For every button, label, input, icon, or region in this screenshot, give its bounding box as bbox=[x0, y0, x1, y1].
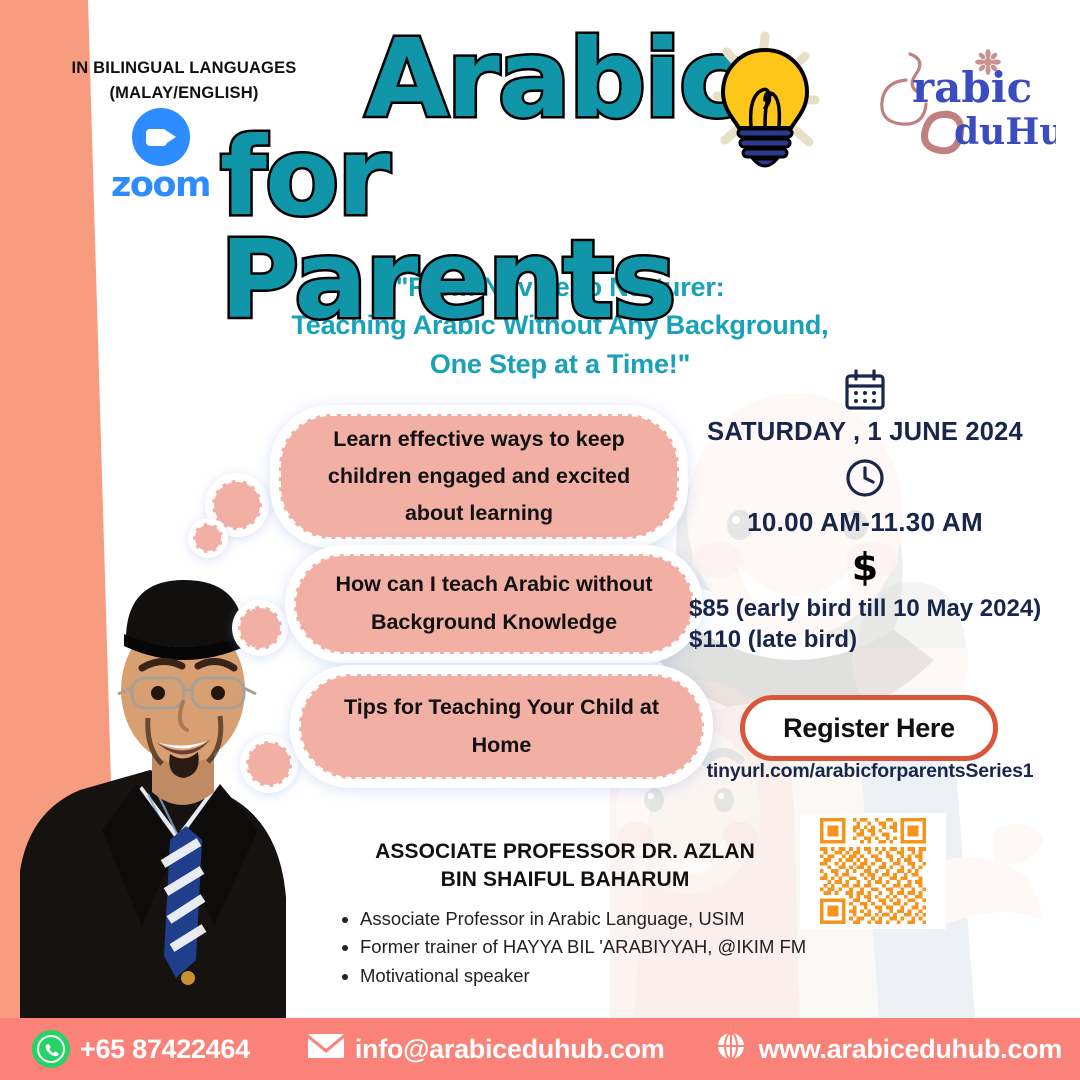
topic-bubble-1-text: Learn effective ways to keep children en… bbox=[279, 414, 679, 539]
price-late-bird: $110 (late bird) bbox=[665, 625, 1065, 656]
list-item: Motivational speaker bbox=[360, 962, 810, 991]
dollar-icon: $ bbox=[665, 548, 1065, 586]
globe-icon bbox=[714, 1029, 748, 1070]
bubble-tail-dot bbox=[240, 735, 298, 793]
register-url[interactable]: tinyurl.com/arabicforparentsSeries1 bbox=[665, 760, 1075, 783]
whatsapp-icon bbox=[32, 1030, 70, 1068]
lightbulb-icon bbox=[705, 30, 825, 180]
contact-email-text: info@arabiceduhub.com bbox=[355, 1034, 665, 1065]
topic-bubble-3: Tips for Teaching Your Child at Home bbox=[290, 665, 713, 788]
zoom-logo: zoom bbox=[108, 108, 213, 203]
topic-bubble-2-text: How can I teach Arabic without Backgroun… bbox=[294, 554, 694, 654]
bubble-tail-dot bbox=[232, 600, 288, 656]
zoom-icon bbox=[132, 108, 190, 166]
register-button[interactable]: Register Here bbox=[740, 695, 998, 761]
bubble-tail-dot bbox=[188, 518, 228, 558]
brand-logo: rabic duHub bbox=[866, 40, 1056, 160]
speaker-credential-list: Associate Professor in Arabic Language, … bbox=[320, 905, 810, 991]
topic-bubble-2: How can I teach Arabic without Backgroun… bbox=[285, 545, 703, 663]
event-time: 10.00 AM-11.30 AM bbox=[665, 507, 1065, 538]
contact-phone-text: +65 87422464 bbox=[80, 1034, 250, 1065]
poster-canvas: IN BILINGUAL LANGUAGES (MALAY/ENGLISH) z… bbox=[0, 0, 1080, 1080]
event-date: SATURDAY , 1 JUNE 2024 bbox=[665, 418, 1065, 447]
calendar-icon bbox=[665, 368, 1065, 412]
contact-phone[interactable]: +65 87422464 bbox=[32, 1030, 250, 1068]
topic-bubble-1: Learn effective ways to keep children en… bbox=[270, 405, 688, 548]
contact-website[interactable]: www.arabiceduhub.com bbox=[714, 1029, 1062, 1070]
speaker-name-line-1: ASSOCIATE PROFESSOR DR. AZLAN bbox=[320, 838, 810, 866]
list-item: Associate Professor in Arabic Language, … bbox=[360, 905, 810, 934]
speaker-credentials: ASSOCIATE PROFESSOR DR. AZLAN BIN SHAIFU… bbox=[320, 838, 810, 991]
envelope-icon bbox=[307, 1032, 345, 1067]
speaker-name-line-2: BIN SHAIFUL BAHARUM bbox=[320, 866, 810, 894]
brand-text-1: rabic bbox=[912, 63, 1032, 112]
brand-text-2: duHub bbox=[954, 111, 1056, 153]
list-item: Former trainer of HAYYA BIL 'ARABIYYAH, … bbox=[360, 933, 810, 962]
contact-website-text: www.arabiceduhub.com bbox=[758, 1034, 1062, 1065]
contact-bar: +65 87422464 info@arabiceduhub.com bbox=[0, 1018, 1080, 1080]
price-early-bird: $85 (early bird till 10 May 2024) bbox=[665, 594, 1065, 625]
clock-icon bbox=[665, 457, 1065, 499]
topic-bubble-3-text: Tips for Teaching Your Child at Home bbox=[299, 674, 704, 779]
contact-email[interactable]: info@arabiceduhub.com bbox=[307, 1032, 665, 1067]
event-details: SATURDAY , 1 JUNE 2024 10.00 AM-11.30 AM… bbox=[665, 368, 1065, 655]
zoom-wordmark: zoom bbox=[108, 168, 213, 203]
qr-code-icon[interactable] bbox=[800, 813, 946, 929]
